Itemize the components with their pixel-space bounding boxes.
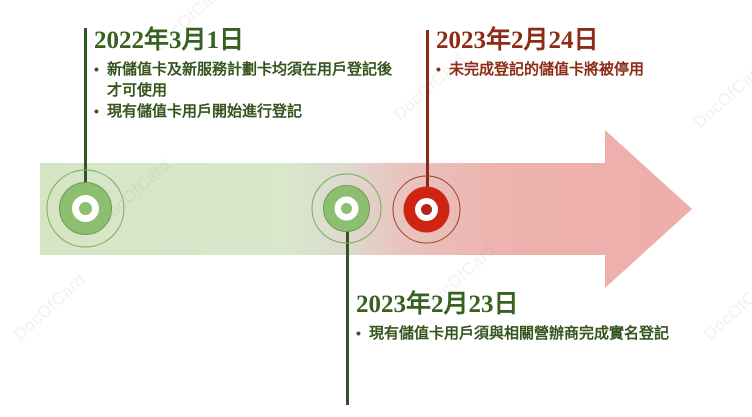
list-item: • 現有儲值卡用戶須與相關營辦商完成實名登記 [356,323,686,344]
bullet-dot-icon: • [94,101,107,122]
milestone-block-2023-02-24: 2023年2月24日 • 未完成登記的儲值卡將被停用 [436,26,672,80]
milestone-date-2023-02-23: 2023年2月23日 [356,290,686,320]
list-item: • 現有儲值卡用戶開始進行登記 [94,101,394,122]
milestone-block-2022-03-01: 2022年3月1日 • 新儲值卡及新服務計劃卡均須在用戶登記後才可使用 • 現有… [94,26,394,122]
list-item-text: 現有儲值卡用戶須與相關營辦商完成實名登記 [369,323,686,344]
milestone-bullets-2023-02-24: • 未完成登記的儲值卡將被停用 [436,59,672,80]
list-item: • 未完成登記的儲值卡將被停用 [436,59,672,80]
bullet-dot-icon: • [94,59,107,80]
milestone-date-2022-03-01: 2022年3月1日 [94,26,394,56]
bullet-dot-icon: • [436,59,449,80]
list-item: • 新儲值卡及新服務計劃卡均須在用戶登記後才可使用 [94,59,394,101]
bullet-dot-icon: • [356,323,369,344]
timeline-marker-2023-02-24[interactable] [392,175,461,244]
milestone-block-2023-02-23: 2023年2月23日 • 現有儲值卡用戶須與相關營辦商完成實名登記 [356,290,686,344]
timeline-infographic: 2022年3月1日 • 新儲值卡及新服務計劃卡均須在用戶登記後才可使用 • 現有… [0,0,752,412]
milestone-date-2023-02-24: 2023年2月24日 [436,26,672,56]
list-item-text: 新儲值卡及新服務計劃卡均須在用戶登記後才可使用 [107,59,394,101]
milestone-bullets-2023-02-23: • 現有儲值卡用戶須與相關營辦商完成實名登記 [356,323,686,344]
milestone-bullets-2022-03-01: • 新儲值卡及新服務計劃卡均須在用戶登記後才可使用 • 現有儲值卡用戶開始進行登… [94,59,394,122]
list-item-text: 現有儲值卡用戶開始進行登記 [107,101,394,122]
timeline-marker-2022-03-01[interactable] [46,169,125,248]
list-item-text: 未完成登記的儲值卡將被停用 [449,59,672,80]
timeline-marker-2023-02-23[interactable] [311,173,382,244]
